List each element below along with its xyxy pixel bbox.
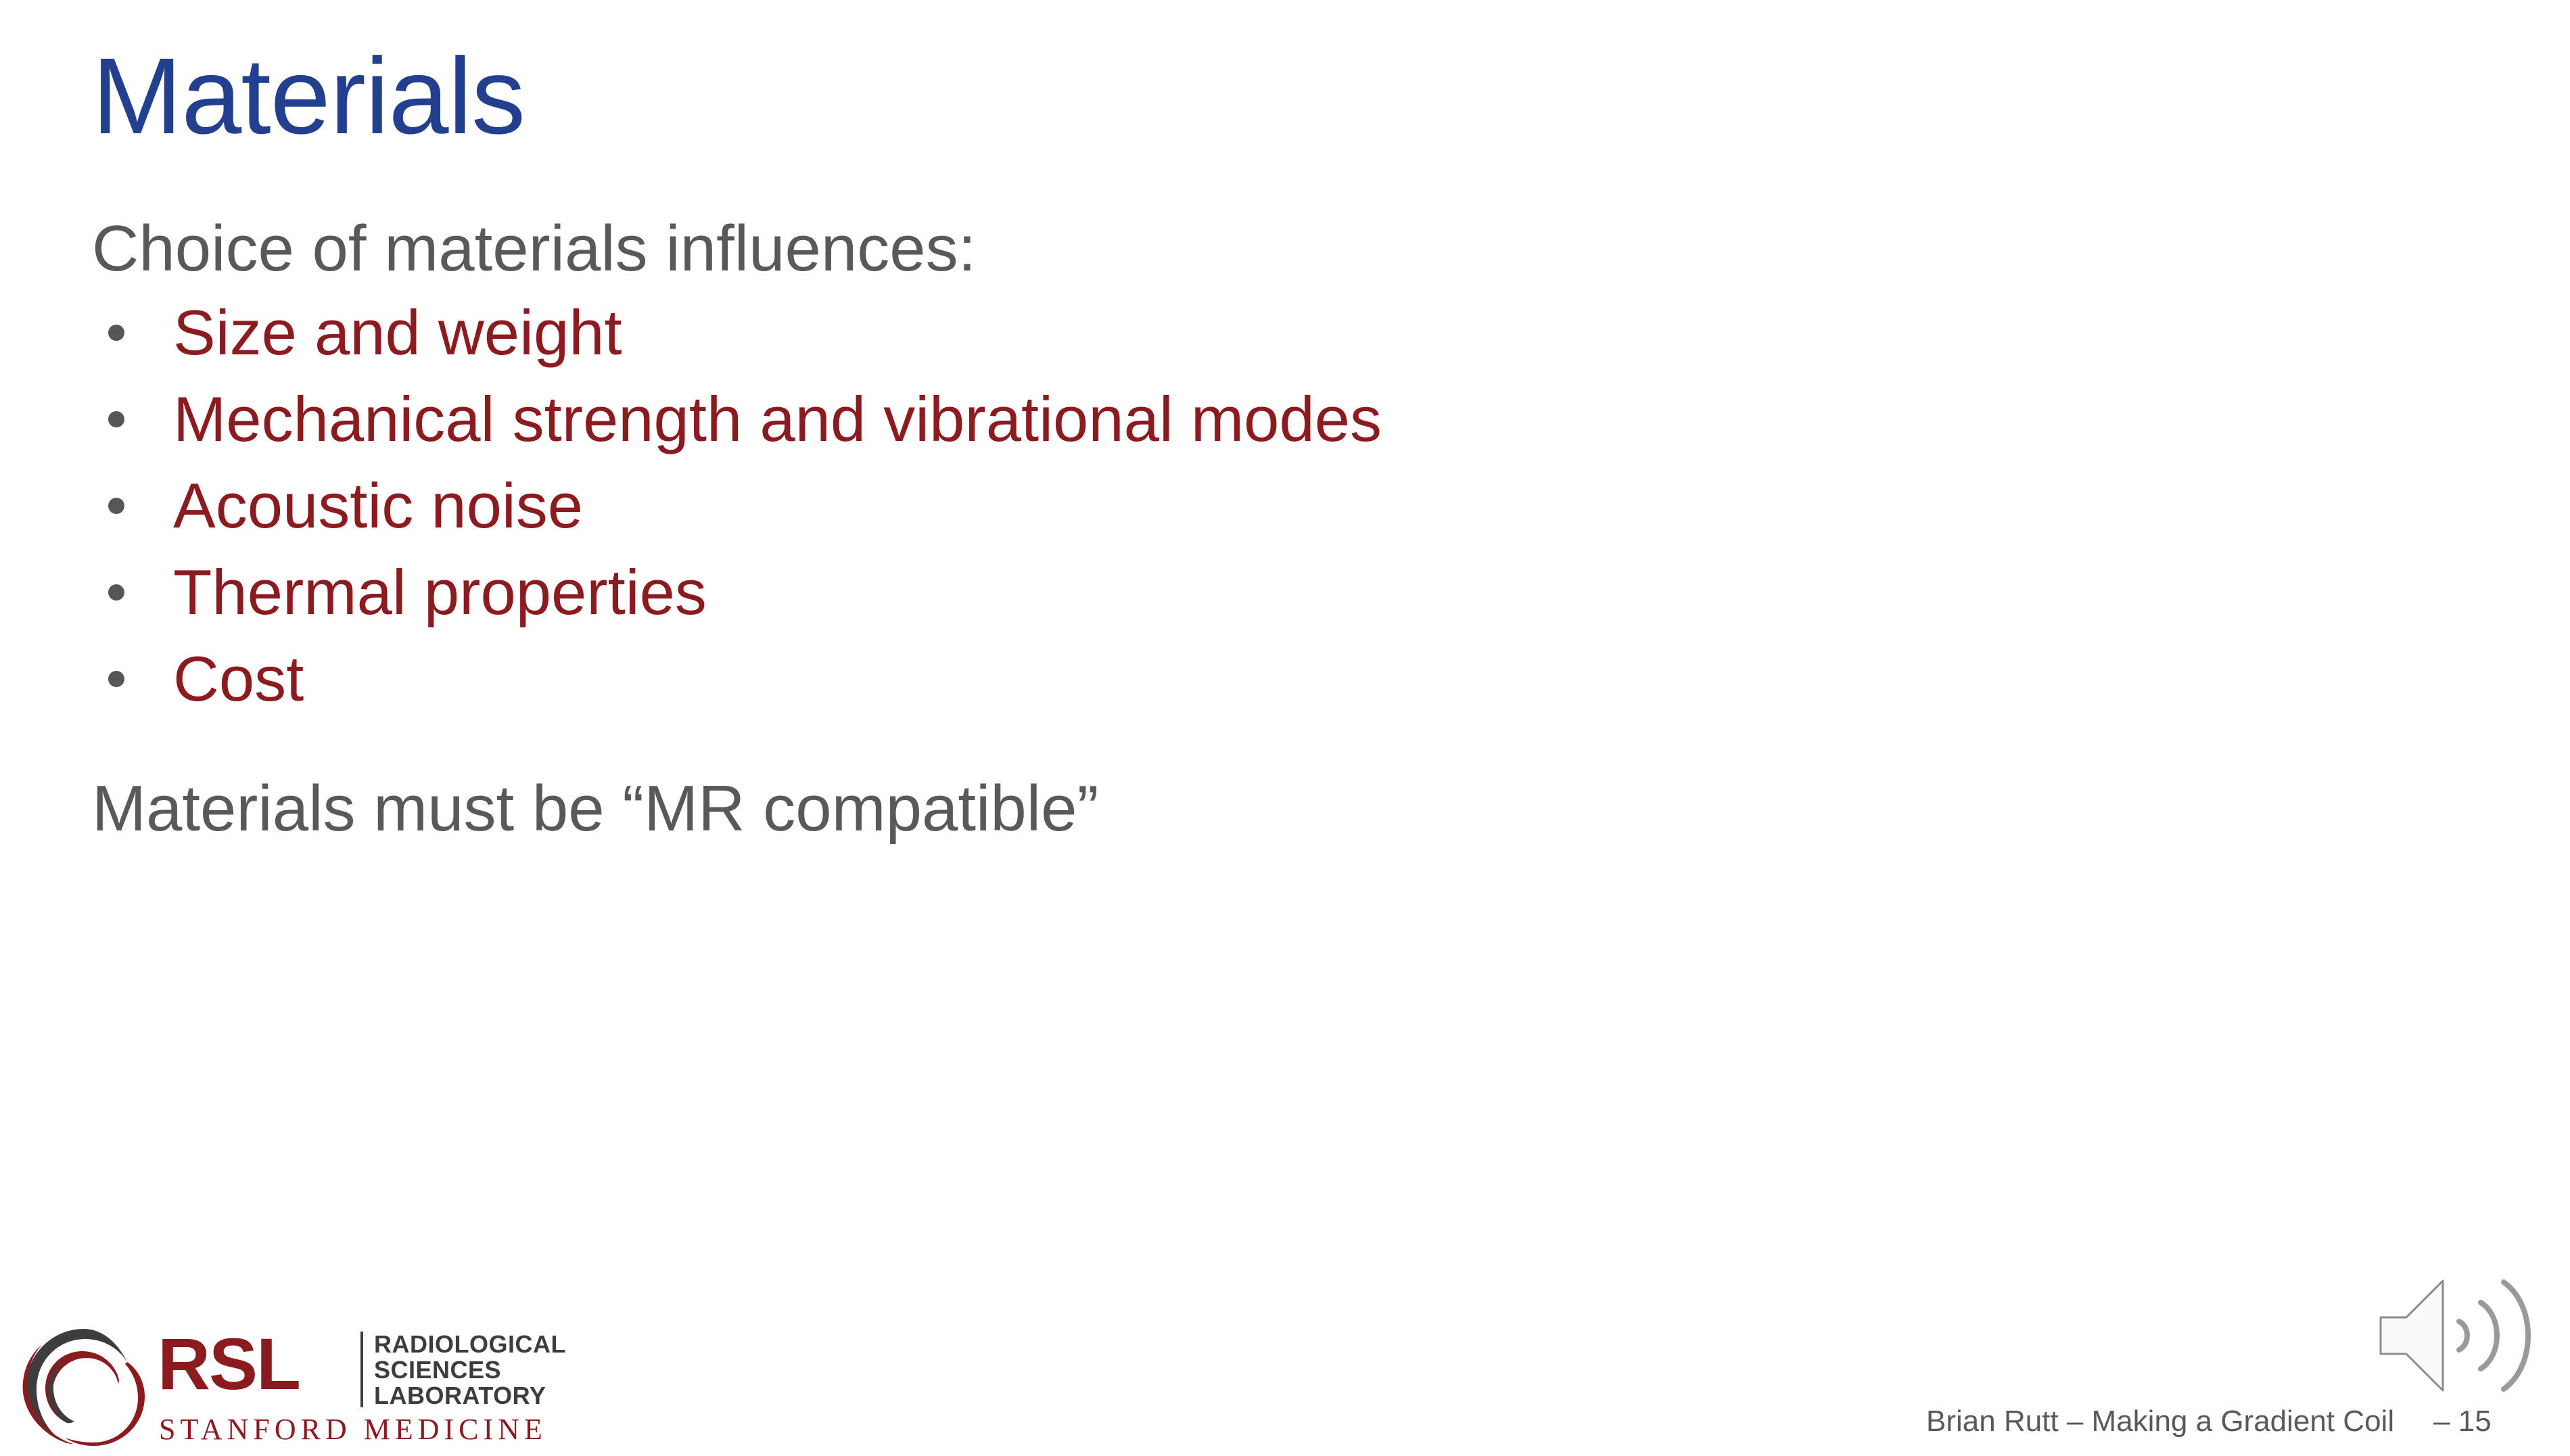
bullet-dot-icon <box>92 299 173 367</box>
list-item-label: Size and weight <box>173 299 622 367</box>
list-item-label: Mechanical strength and vibrational mode… <box>173 385 1382 453</box>
bullet-dot-icon <box>92 645 173 713</box>
bullet-dot-icon <box>92 385 173 453</box>
footer: Brian Rutt – Making a Gradient Coil – 15 <box>1926 1405 2492 1438</box>
logo-institution: STANFORD MEDICINE <box>159 1414 547 1445</box>
slide-canvas: Materials Choice of materials influences… <box>0 0 2570 1456</box>
list-item: Size and weight <box>92 299 2391 372</box>
bullet-list: Size and weight Mechanical strength and … <box>92 299 2391 718</box>
bullet-dot-icon <box>92 472 173 540</box>
page-number: – 15 <box>2433 1405 2492 1438</box>
list-item: Mechanical strength and vibrational mode… <box>92 385 2391 459</box>
list-item-label: Acoustic noise <box>173 472 583 540</box>
list-item: Acoustic noise <box>92 472 2391 545</box>
closing-text: Materials must be “MR compatible” <box>92 776 1098 841</box>
logo-lab-line-3: LABORATORY <box>374 1383 566 1409</box>
list-item: Cost <box>92 645 2391 718</box>
speaker-audio-icon[interactable] <box>2375 1271 2538 1400</box>
logo-divider <box>360 1332 363 1407</box>
intro-text: Choice of materials influences: <box>92 216 2391 281</box>
slide-body: Choice of materials influences: Size and… <box>92 216 2391 732</box>
logo-lab-line-1: RADIOLOGICAL <box>374 1332 566 1357</box>
bullet-dot-icon <box>92 559 173 626</box>
rsl-swirl-icon <box>19 1322 154 1451</box>
logo-wordmark: RSL RADIOLOGICAL SCIENCES LABORATORY STA… <box>158 1328 577 1449</box>
logo-acronym: RSL <box>158 1328 300 1401</box>
page-title: Materials <box>92 42 525 150</box>
logo-lab-name: RADIOLOGICAL SCIENCES LABORATORY <box>374 1332 566 1409</box>
list-item-label: Cost <box>173 645 304 713</box>
rsl-stanford-logo: RSL RADIOLOGICAL SCIENCES LABORATORY STA… <box>19 1322 587 1451</box>
list-item-label: Thermal properties <box>173 559 707 626</box>
logo-lab-line-2: SCIENCES <box>374 1357 566 1383</box>
list-item: Thermal properties <box>92 559 2391 632</box>
footer-title: Brian Rutt – Making a Gradient Coil <box>1926 1405 2394 1438</box>
